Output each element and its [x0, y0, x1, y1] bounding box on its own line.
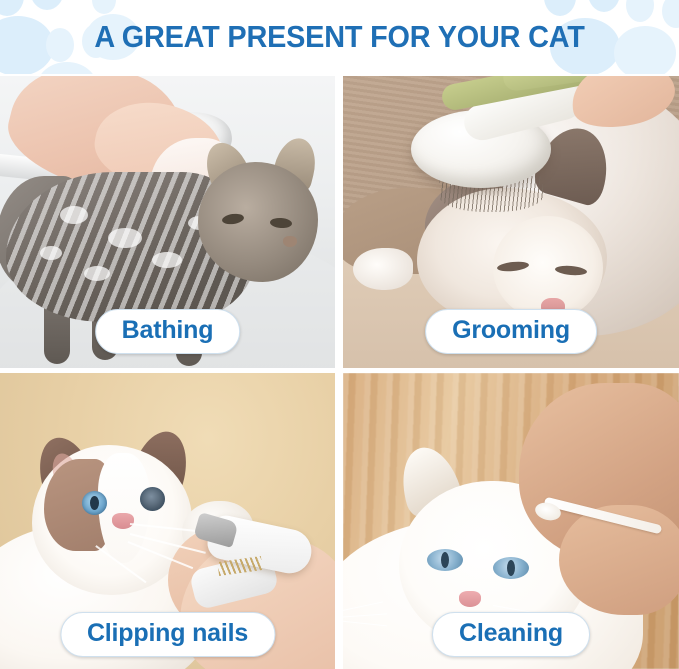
feature-panel-bathing[interactable]: Bathing	[0, 76, 335, 368]
header-banner: A GREAT PRESENT FOR YOUR CAT	[0, 0, 679, 74]
page-title: A GREAT PRESENT FOR YOUR CAT	[24, 18, 655, 56]
product-infographic: A GREAT PRESENT FOR YOUR CAT	[0, 0, 679, 669]
feature-panel-clipping-nails[interactable]: Clipping nails	[0, 373, 335, 669]
panel-label-cleaning: Cleaning	[432, 612, 590, 657]
feature-panel-grooming[interactable]: Grooming	[343, 76, 679, 368]
panel-label-bathing: Bathing	[95, 309, 241, 354]
panel-label-grooming: Grooming	[425, 309, 597, 354]
panel-label-clipping-nails: Clipping nails	[60, 612, 275, 657]
feature-panel-cleaning[interactable]: Cleaning	[343, 373, 679, 669]
feature-grid: Bathing	[0, 76, 679, 669]
